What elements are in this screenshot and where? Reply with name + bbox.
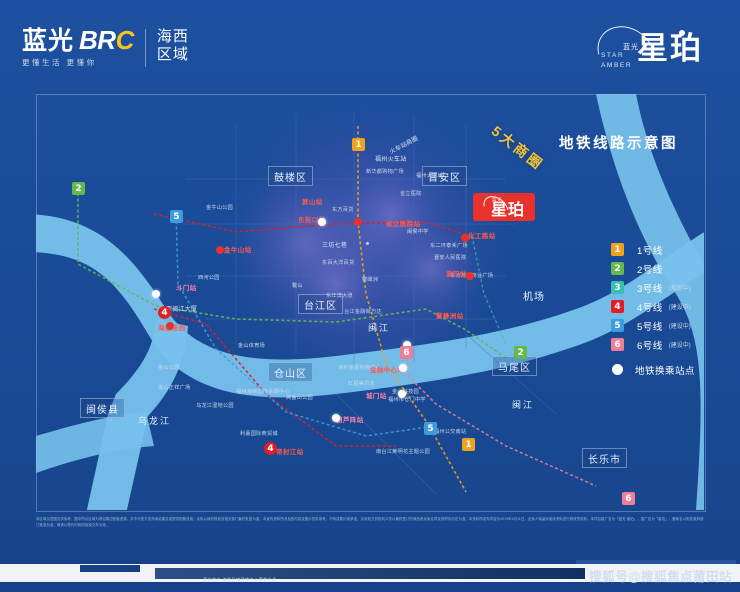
poster-header: 蓝光 BRC 更懂生活 更懂你 海西 区域 蓝光 STAR AMBER 星珀 xyxy=(0,0,740,92)
brand-region: 海西 区域 xyxy=(157,27,189,63)
project-logo-en: STAR AMBER xyxy=(601,51,632,71)
bottom-bar-strip xyxy=(80,565,140,572)
watermark: 搜狐号@搜狐焦点莆田站 xyxy=(589,566,732,585)
map-border xyxy=(36,94,706,512)
brand-name-cn: 蓝光 xyxy=(22,28,74,53)
watermark-bar xyxy=(576,560,736,564)
brand-tagline: 更懂生活 更懂你 xyxy=(22,57,134,68)
brand-name-en: BRC xyxy=(79,27,134,53)
brand-logo-text: 蓝光 BRC 更懂生活 更懂你 xyxy=(22,27,134,68)
bottom-bar-inner: 蓝光地产 海西区域营销中心荣誉出品 xyxy=(155,568,585,579)
logo-divider xyxy=(145,29,146,67)
project-logo: 蓝光 STAR AMBER 星珀 xyxy=(582,22,712,78)
poster-page: 蓝光 BRC 更懂生活 更懂你 海西 区域 蓝光 STAR AMBER 星珀 xyxy=(0,0,740,592)
bottom-bar-text: 蓝光地产 海西区域营销中心荣誉出品 xyxy=(203,577,277,582)
brand-logo: 蓝光 BRC 更懂生活 更懂你 海西 区域 xyxy=(22,27,189,68)
brand-region-line2: 区域 xyxy=(157,46,189,64)
project-logo-cn: 星珀 xyxy=(637,30,703,69)
brand-region-line1: 海西 xyxy=(157,28,189,46)
legal-disclaimer: 本区域示意图仅供参考，图中所示区域为项目周边配套资源，并不代表开发商承诺建设或提… xyxy=(36,516,706,529)
